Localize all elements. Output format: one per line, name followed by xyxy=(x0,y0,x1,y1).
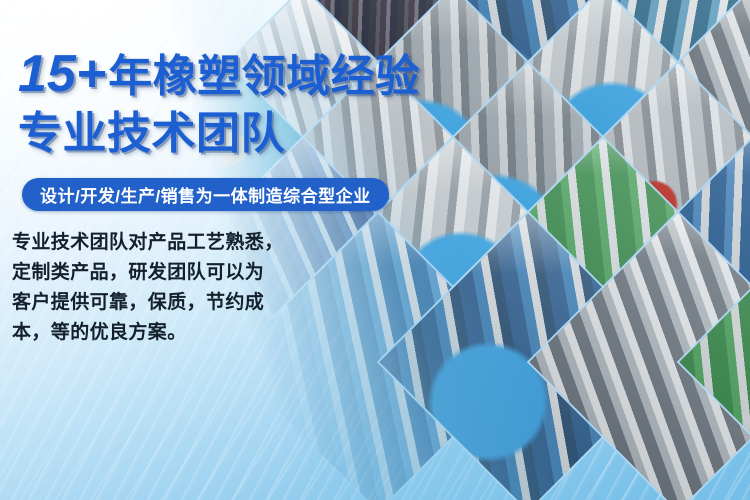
description-line: 定制类产品，研发团队可以为 xyxy=(12,258,284,288)
tagline-pill: 设计/开发/生产/销售为一体制造综合型企业 xyxy=(22,178,389,211)
headline-text-block: 15+年橡塑领域经验 专业技术团队 设计/开发/生产/销售为一体制造综合型企业 … xyxy=(0,0,460,500)
promo-banner: 15+年橡塑领域经验 专业技术团队 设计/开发/生产/销售为一体制造综合型企业 … xyxy=(0,0,750,500)
description-line: 专业技术团队对产品工艺熟悉， xyxy=(12,228,284,258)
headline-primary: 15+年橡塑领域经验 xyxy=(18,48,420,103)
description-paragraph: 专业技术团队对产品工艺熟悉， 定制类产品，研发团队可以为 客户提供可靠，保质，节… xyxy=(12,228,284,348)
headline-secondary: 专业技术团队 xyxy=(18,108,285,160)
headline-primary-text: 年橡塑领域经验 xyxy=(108,52,420,101)
description-line: 客户提供可靠，保质，节约成 xyxy=(12,288,284,318)
tagline-pill-label: 设计/开发/生产/销售为一体制造综合型企业 xyxy=(40,182,371,207)
years-number: 15+ xyxy=(18,45,108,103)
description-line: 本，等的优良方案。 xyxy=(12,318,284,348)
